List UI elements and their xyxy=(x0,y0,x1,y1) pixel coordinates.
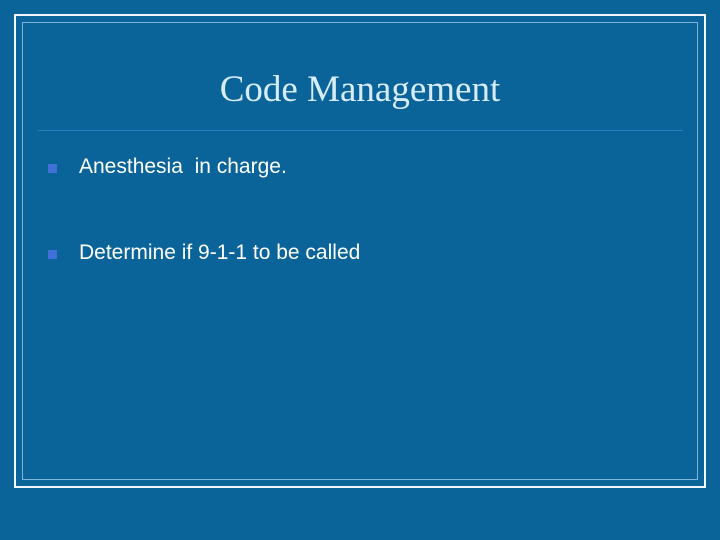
list-item: Determine if 9-1-1 to be called xyxy=(40,238,670,281)
bullet-item-label: Determine if 9-1-1 to be called xyxy=(79,238,670,268)
slide-bullet-list: Anesthesia in charge. Determine if 9-1-1… xyxy=(40,152,670,281)
square-bullet-icon xyxy=(48,164,57,173)
title-divider-rule xyxy=(38,130,683,131)
list-item-blank-line xyxy=(40,195,670,238)
bullet-item-label: Anesthesia in charge. xyxy=(79,152,670,182)
slide-title: Code Management xyxy=(40,68,680,112)
presentation-slide: Code Management Anesthesia in charge. De… xyxy=(0,0,720,540)
square-bullet-icon xyxy=(48,250,57,259)
list-item: Anesthesia in charge. xyxy=(40,152,670,195)
